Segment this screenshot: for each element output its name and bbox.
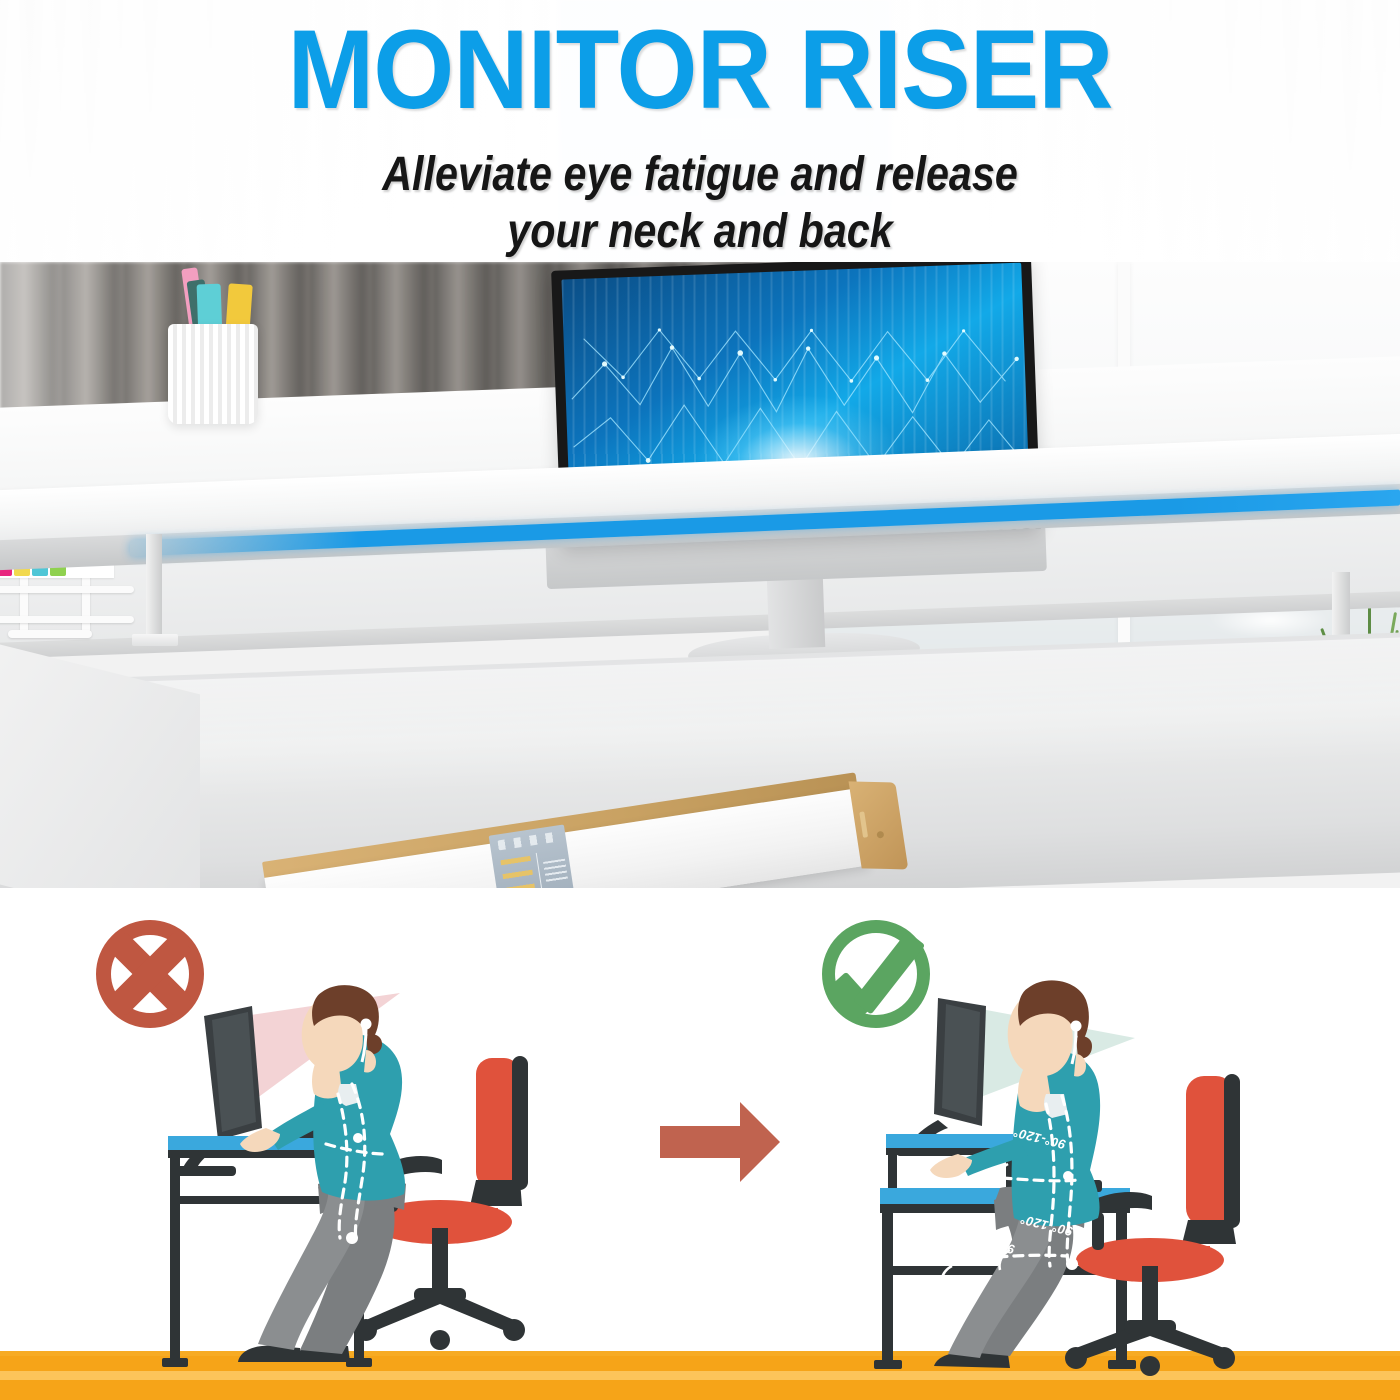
monitor-neck	[767, 573, 826, 649]
package-label-lines	[500, 856, 536, 888]
subtitle-line-1: Alleviate eye fatigue and release	[98, 146, 1302, 203]
tray-shelf-1	[0, 586, 134, 593]
right-arrow-icon	[660, 1102, 780, 1182]
posture-comparison-diagram: 90°-120° 90°-120° 90°-120°	[0, 888, 1400, 1400]
page-subtitle: Alleviate eye fatigue and release your n…	[98, 146, 1302, 260]
x-mark-icon	[96, 920, 204, 1028]
pen-holder-cup	[168, 324, 258, 424]
tray-shelf-2	[0, 616, 134, 623]
check-stroke-long	[853, 931, 925, 1015]
product-infographic-page: MONITOR RISER Alleviate eye fatigue and …	[0, 0, 1400, 1400]
subtitle-line-2: your neck and back	[98, 203, 1302, 260]
riser-foot-left	[132, 634, 178, 646]
desk-left-wing	[0, 630, 200, 888]
page-title: MONITOR RISER	[49, 14, 1351, 126]
header-banner: MONITOR RISER Alleviate eye fatigue and …	[0, 0, 1400, 262]
riser-leg-left	[146, 534, 162, 638]
check-mark-tick	[832, 924, 936, 1010]
diagram-vectors	[0, 888, 1400, 1400]
package-label-text	[543, 859, 568, 884]
product-photo-scene	[0, 262, 1400, 888]
check-mark-icon	[822, 920, 930, 1028]
tray-foot	[8, 630, 92, 638]
